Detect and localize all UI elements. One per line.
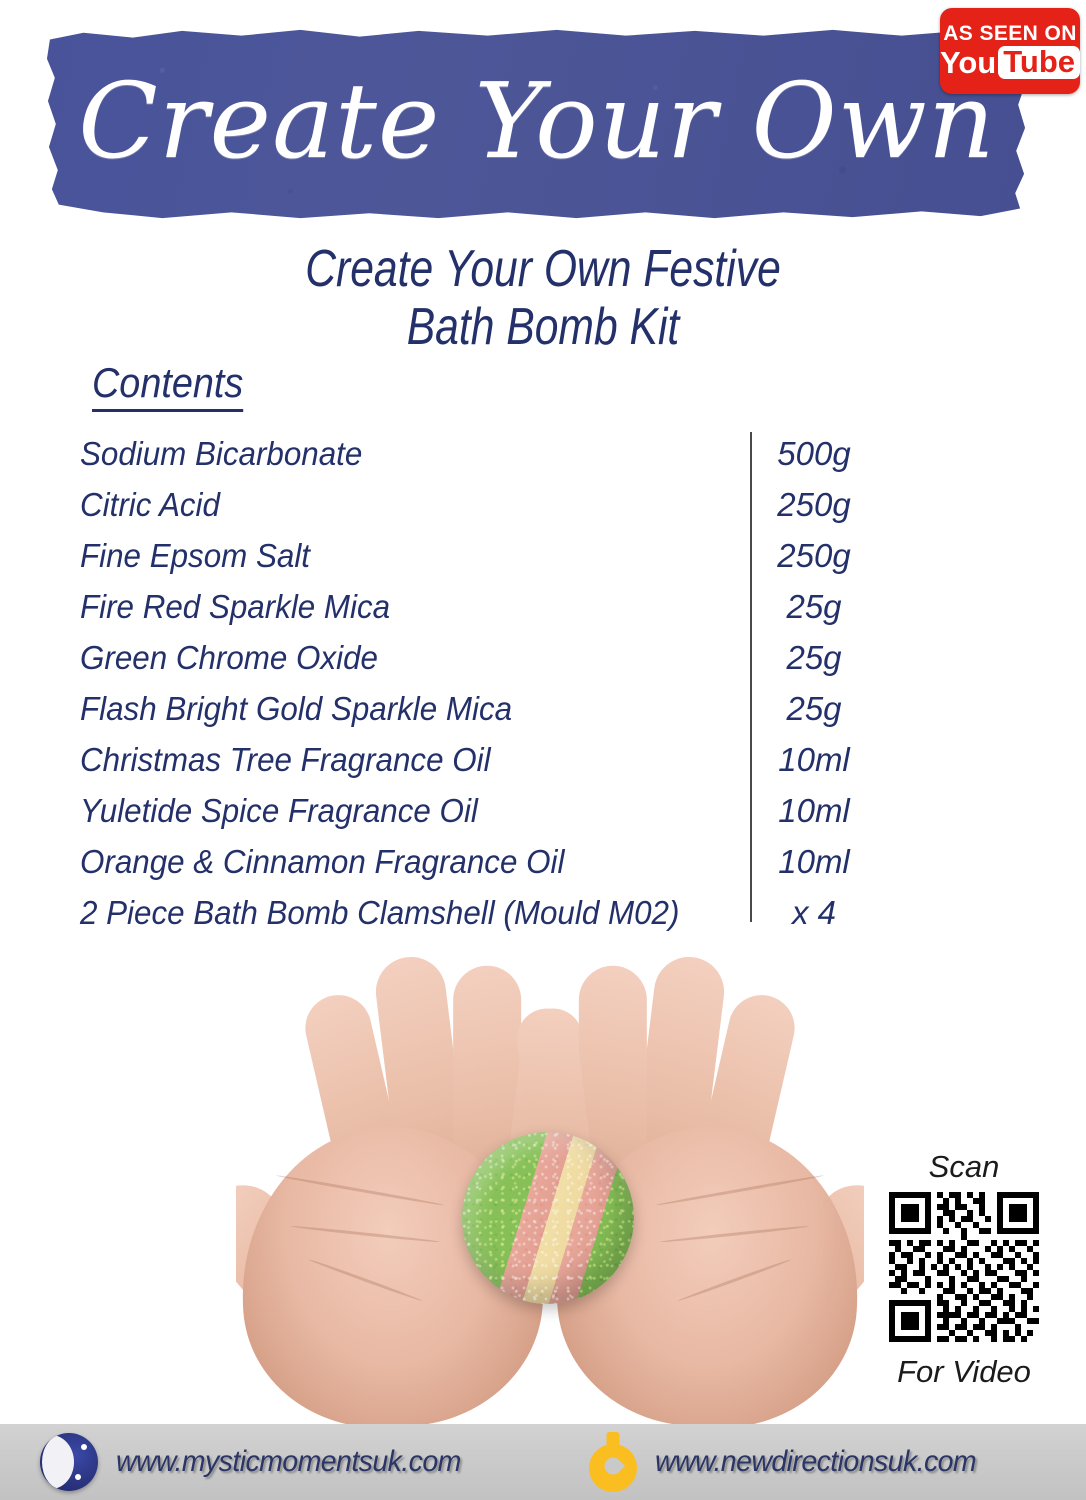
new-directions-url[interactable]: www.newdirectionsuk.com xyxy=(655,1445,976,1479)
subtitle-line-2: Bath Bomb Kit xyxy=(98,298,989,356)
footer-mystic-moments[interactable]: www.mysticmomentsuk.com xyxy=(40,1433,479,1491)
bath-bomb xyxy=(462,1132,634,1304)
scan-qr-block: Scan xyxy=(864,1150,1064,1389)
ingredient-quantity: 250g xyxy=(748,479,880,530)
palm-crease xyxy=(656,1174,824,1206)
bottle-body xyxy=(589,1444,637,1492)
ingredient-quantity: 25g xyxy=(748,581,880,632)
palm-crease xyxy=(290,1225,439,1244)
ingredient-name: Fire Red Sparkle Mica xyxy=(80,581,715,632)
contents-row: Citric Acid 250g xyxy=(80,479,880,530)
scan-sub-label: For Video xyxy=(864,1355,1064,1389)
contents-heading: Contents xyxy=(92,362,243,412)
ingredient-quantity: 25g xyxy=(748,632,880,683)
ingredient-name: Flash Bright Gold Sparkle Mica xyxy=(80,683,715,734)
contents-row: Christmas Tree Fragrance Oil 10ml xyxy=(80,734,880,785)
product-photo-hands-holding-bath-bomb xyxy=(236,946,864,1426)
ingredient-quantity: 250g xyxy=(748,530,880,581)
ingredient-name: Green Chrome Oxide xyxy=(80,632,715,683)
youtube-tube-text: Tube xyxy=(998,46,1080,79)
ingredient-name: Yuletide Spice Fragrance Oil xyxy=(80,785,715,836)
palm-crease xyxy=(660,1225,809,1244)
ingredient-quantity: 500g xyxy=(748,428,880,479)
bottle-drop-logo-icon xyxy=(589,1432,637,1492)
as-seen-on-youtube-badge: AS SEEN ON You Tube xyxy=(940,8,1080,94)
ingredient-name: Orange & Cinnamon Fragrance Oil xyxy=(80,836,715,887)
palm-crease xyxy=(678,1258,792,1302)
header-banner: Create Your Own xyxy=(44,28,1030,220)
ingredient-quantity: 10ml xyxy=(748,836,880,887)
contents-row: 2 Piece Bath Bomb Clamshell (Mould M02) … xyxy=(80,887,880,938)
youtube-logo-icon: You Tube xyxy=(940,46,1080,79)
contents-row: Fire Red Sparkle Mica 25g xyxy=(80,581,880,632)
ingredient-name: Sodium Bicarbonate xyxy=(80,428,715,479)
subtitle-line-1: Create Your Own Festive xyxy=(305,240,781,298)
footer-bar: www.mysticmomentsuk.com www.newdirection… xyxy=(0,1424,1086,1500)
contents-list: Sodium Bicarbonate 500g Citric Acid 250g… xyxy=(80,428,880,938)
ingredient-name: 2 Piece Bath Bomb Clamshell (Mould M02) xyxy=(80,887,715,938)
bath-bomb-texture xyxy=(462,1132,634,1304)
contents-row: Fine Epsom Salt 250g xyxy=(80,530,880,581)
footer-new-directions[interactable]: www.newdirectionsuk.com xyxy=(589,1432,993,1492)
qr-code-icon[interactable] xyxy=(889,1192,1039,1342)
ingredient-quantity: x 4 xyxy=(748,887,880,938)
ingredient-quantity: 10ml xyxy=(748,785,880,836)
product-label-page: Create Your Own AS SEEN ON You Tube Crea… xyxy=(0,0,1086,1500)
contents-row: Flash Bright Gold Sparkle Mica 25g xyxy=(80,683,880,734)
badge-as-seen-on-text: AS SEEN ON xyxy=(943,23,1077,44)
contents-row: Orange & Cinnamon Fragrance Oil 10ml xyxy=(80,836,880,887)
contents-row: Sodium Bicarbonate 500g xyxy=(80,428,880,479)
ingredient-name: Christmas Tree Fragrance Oil xyxy=(80,734,715,785)
ingredient-name: Citric Acid xyxy=(80,479,715,530)
scan-label: Scan xyxy=(864,1150,1064,1184)
ingredient-quantity: 25g xyxy=(748,683,880,734)
ingredient-name: Fine Epsom Salt xyxy=(80,530,715,581)
moon-face-logo-icon xyxy=(40,1433,98,1491)
product-subtitle: Create Your Own Festive Bath Bomb Kit xyxy=(98,240,989,356)
banner-script-title: Create Your Own xyxy=(44,28,1030,220)
mystic-moments-url[interactable]: www.mysticmomentsuk.com xyxy=(116,1445,461,1479)
contents-row: Yuletide Spice Fragrance Oil 10ml xyxy=(80,785,880,836)
youtube-you-text: You xyxy=(940,47,996,78)
contents-row: Green Chrome Oxide 25g xyxy=(80,632,880,683)
contents-column-divider xyxy=(750,432,752,922)
ingredient-quantity: 10ml xyxy=(748,734,880,785)
palm-crease xyxy=(276,1174,444,1206)
palm-crease xyxy=(309,1258,423,1302)
